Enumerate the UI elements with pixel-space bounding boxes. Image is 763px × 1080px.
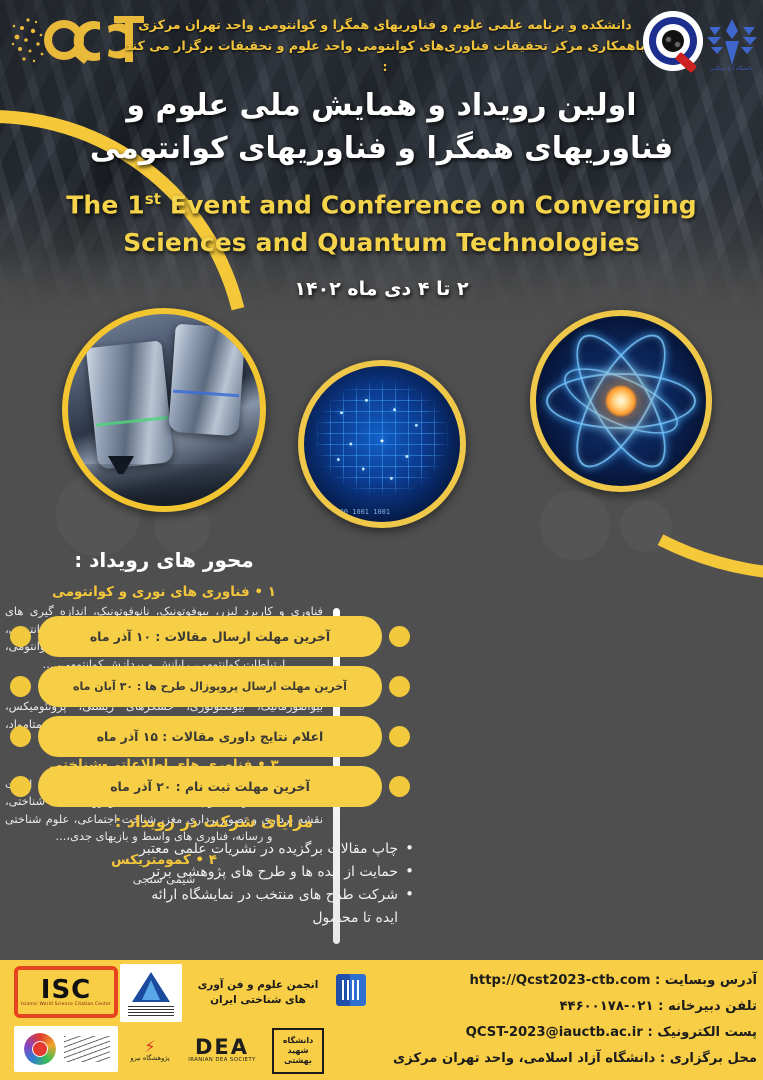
benefits-section: مزایای شرکت در رویداد : چاپ مقالات برگزی… [14, 812, 414, 930]
title-fa-line-1: اولین رویداد و همایش ملی علوم و [0, 84, 763, 127]
website-value[interactable]: http://Qcst2023-ctb.com [470, 973, 651, 988]
cognitive-society-logo [120, 964, 182, 1022]
isc-logo-subtitle: Islamic World Science Citation Center [21, 1002, 111, 1007]
deadline-bullet-dot [10, 626, 31, 647]
dea-logo-text: DEA [195, 1037, 249, 1057]
header-logos: دانشگاه آزاد اسلامی [645, 4, 761, 82]
organizer-line-1: دانشکده و برنامه علمی علوم و فناوریهای ه… [125, 14, 645, 35]
title-en-line-2: Sciences and Quantum Technologies [0, 224, 763, 262]
book-icon [336, 974, 366, 1006]
event-date: ۲ تا ۴ دی ماه ۱۴۰۲ [0, 278, 763, 300]
deadline-bullet-dot [10, 726, 31, 747]
isc-logo: ISC Islamic World Science Citation Cente… [14, 966, 118, 1018]
deadline-pill: آخرین مهلت ارسال پروپوزال طرح ها : ۳۰ آب… [38, 666, 382, 707]
society-triangle-inner-icon [142, 980, 160, 1000]
deadline-bullet-dot [10, 676, 31, 697]
azad-university-logo [705, 13, 759, 69]
quantum-center-logo [643, 11, 703, 71]
partner-script-text [64, 1036, 110, 1062]
lightning-bolt-icon: ⚡ [144, 1040, 155, 1054]
title-en-prefix: The 1 [66, 190, 144, 219]
website-label: آدرس وبسایت : [655, 973, 757, 988]
topic-title: ۱ • فناوری های نوری و کوانتومی [5, 584, 323, 600]
topic-label: فناوری های نوری و کوانتومی [52, 584, 250, 600]
deadline-pill: آخرین مهلت ثبت نام : ۲۰ آذر ماه [38, 766, 382, 807]
deadline-bullet-dot [10, 776, 31, 797]
quantum-logo-dot [665, 36, 672, 43]
deadline-bullet-dot [389, 726, 410, 747]
shahid-beheshti-logo: دانشگاه شهید بهشتی [272, 1028, 324, 1074]
binary-code-text: 0110 0100 1001 1001 [310, 508, 390, 516]
email-label: پست الکترونیک : [647, 1025, 757, 1040]
website-row: آدرس وبسایت : http://Qcst2023-ctb.com [337, 968, 757, 994]
topic-number: ۱ [268, 584, 276, 600]
microscope-objective [168, 324, 245, 437]
benefit-item: حمایت از ایده ها و طرح های پژوهشی برتر [14, 861, 414, 884]
society-logo-caption [128, 1006, 174, 1016]
atom-nucleus [604, 384, 638, 418]
circuit-nodes [304, 366, 460, 522]
quantum-logo-tail [675, 52, 697, 73]
deadline-bullet-dot [389, 626, 410, 647]
title-en-rest: Event and Conference on Converging [170, 190, 697, 219]
niroo-research-logo: ⚡ پژوهشگاه نیرو [122, 1030, 178, 1072]
poster-header: دانشکده و برنامه علمی علوم و فناوریهای ه… [0, 0, 763, 84]
deadline-row: آخرین مهلت ثبت نام : ۲۰ آذر ماه [8, 764, 412, 809]
circuit-brain-image: 0110 0100 1001 1001 [298, 360, 466, 528]
partner-logo [14, 1026, 118, 1072]
microscope-image [62, 308, 266, 512]
dea-society-logo: DEA IRANIAN DEA SOCIETY [178, 1030, 266, 1070]
phone-value: ۰۲۱-۴۴۶۰۰۱۷۸ [559, 999, 653, 1014]
dea-logo-subtitle: IRANIAN DEA SOCIETY [188, 1057, 255, 1063]
niroo-label: پژوهشگاه نیرو [130, 1054, 169, 1062]
deadline-pill: آخرین مهلت ارسال مقالات : ۱۰ آذر ماه [38, 616, 382, 657]
title-fa-line-2: فناوریهای همگرا و فناوریهای کوانتومی [0, 127, 763, 170]
shahid-beheshti-label: دانشگاه شهید بهشتی [274, 1036, 322, 1066]
conference-poster: دانشکده و برنامه علمی علوم و فناوریهای ه… [0, 0, 763, 1080]
objective-stripe [96, 416, 168, 427]
phone-label: تلفن دبیرخانه : [658, 999, 757, 1014]
objective-stripe [173, 390, 239, 398]
benefit-item: شرکت طرح های منتخب در نمایشگاه ارائه [14, 884, 414, 907]
venue-row: محل برگزاری : دانشگاه آزاد اسلامی، واحد … [337, 1046, 757, 1072]
email-value[interactable]: QCST-2023@iauctb.ac.ir [466, 1025, 643, 1040]
benefits-heading: مزایای شرکت در رویداد : [14, 812, 414, 831]
organizer-line-2: باهمکاری مرکز تحقیقات فناوری‌های کوانتوم… [125, 35, 645, 77]
isc-logo-text: ISC [41, 978, 91, 1002]
deadline-pill: اعلام نتایج داوری مقالات : ۱۵ آذر ماه [38, 716, 382, 757]
title-en-line-1: The 1st Event and Conference on Convergi… [0, 180, 763, 224]
ring-center-icon [33, 1042, 47, 1056]
email-row: پست الکترونیک : QCST-2023@iauctb.ac.ir [337, 1020, 757, 1046]
venue-label: محل برگزاری : [660, 1051, 757, 1066]
organizer-text: دانشکده و برنامه علمی علوم و فناوریهای ه… [125, 14, 645, 77]
deadlines-section: آخرین مهلت ارسال مقالات : ۱۰ آذر ماه آخر… [8, 614, 412, 814]
deadline-row: اعلام نتایج داوری مقالات : ۱۵ آذر ماه [8, 714, 412, 759]
atom-image [530, 310, 712, 492]
benefit-continuation: ایده تا محصول [14, 907, 414, 930]
title-en-ordinal: st [145, 190, 161, 208]
deadline-row: آخرین مهلت ارسال پروپوزال طرح ها : ۳۰ آب… [8, 664, 412, 709]
quantum-logo-dot [674, 41, 681, 48]
microscope-stage [68, 464, 260, 506]
poster-title-persian: اولین رویداد و همایش ملی علوم و فناوریها… [0, 84, 763, 170]
deadline-bullet-dot [389, 676, 410, 697]
venue-value: دانشگاه آزاد اسلامی، واحد تهران مرکزی [393, 1051, 655, 1066]
poster-footer: آدرس وبسایت : http://Qcst2023-ctb.com تل… [0, 960, 763, 1080]
poster-title-english: The 1st Event and Conference on Convergi… [0, 180, 763, 262]
cognitive-society-name: انجمن علوم و فن آوری های شناختی ایران [188, 978, 328, 1008]
benefits-list: چاپ مقالات برگزیده در نشریات علمی معتبر … [14, 838, 414, 907]
benefit-item: چاپ مقالات برگزیده در نشریات علمی معتبر [14, 838, 414, 861]
contact-info: آدرس وبسایت : http://Qcst2023-ctb.com تل… [337, 968, 757, 1072]
deadline-bullet-dot [389, 776, 410, 797]
microscope-objective [86, 340, 174, 469]
azad-wings-icon [705, 13, 759, 69]
phone-row: تلفن دبیرخانه : ۰۲۱-۴۴۶۰۰۱۷۸ [337, 994, 757, 1020]
deadline-row: آخرین مهلت ارسال مقالات : ۱۰ آذر ماه [8, 614, 412, 659]
topics-heading: محور های رویداد : [5, 548, 323, 572]
azad-logo-caption: دانشگاه آزاد اسلامی [707, 66, 755, 72]
